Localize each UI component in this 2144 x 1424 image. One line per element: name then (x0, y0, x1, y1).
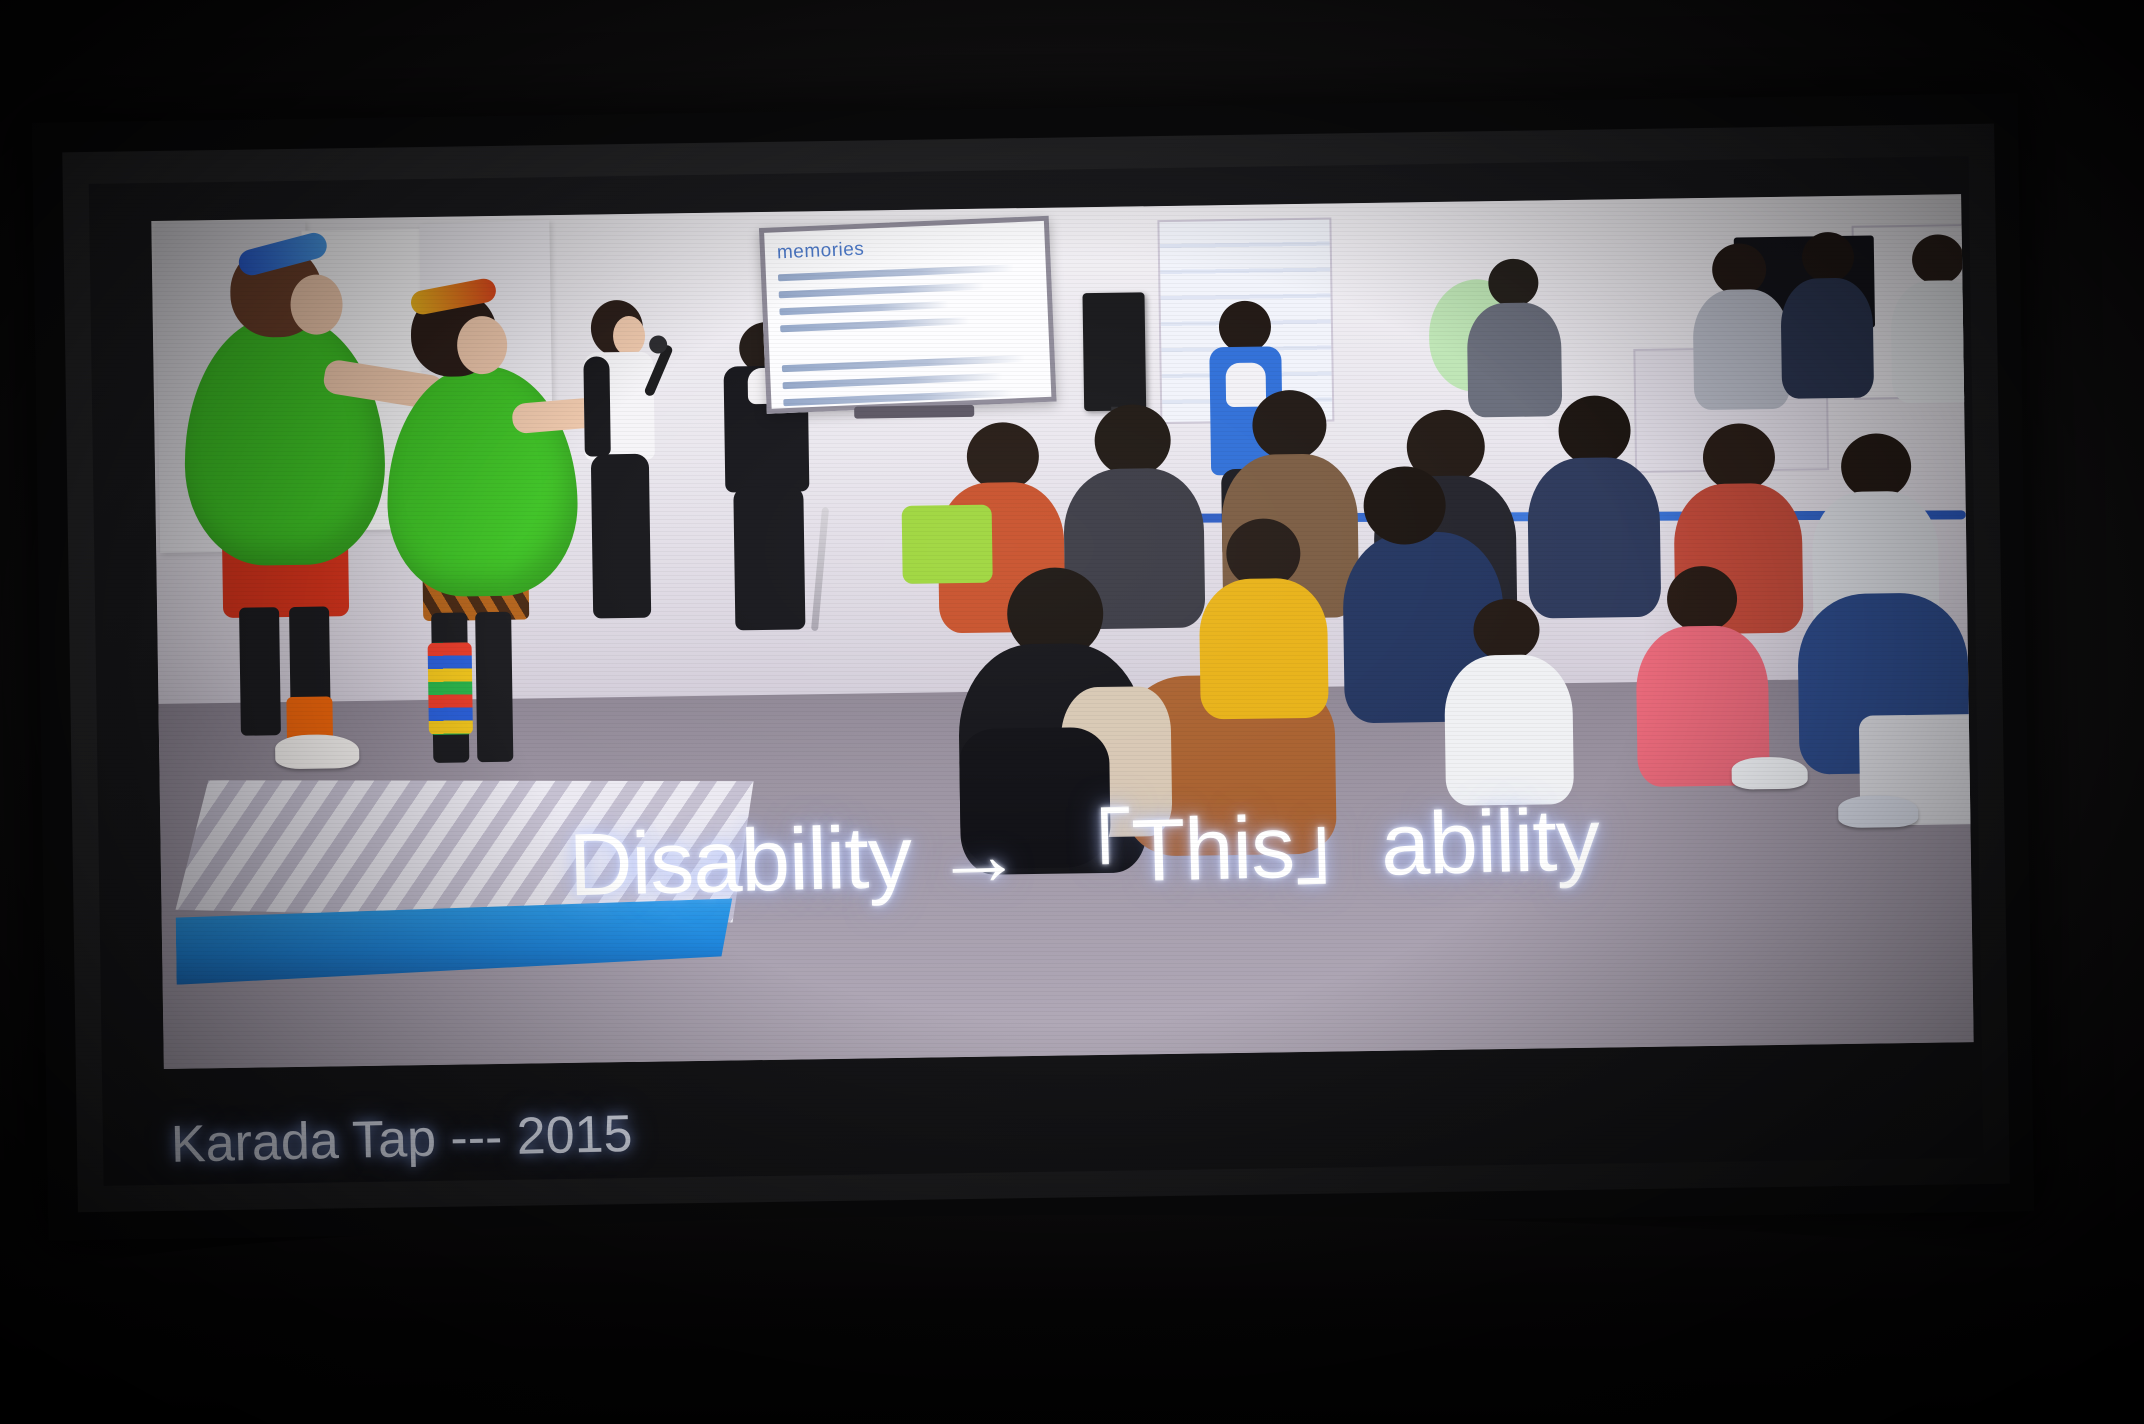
yellow-jacket-child (1199, 578, 1329, 720)
room-floor-shadow (0, 1215, 2144, 1424)
pa-speaker (1082, 292, 1146, 411)
crowd-body (1692, 289, 1790, 410)
memories-slide-title: memories (777, 231, 1034, 264)
white-sneaker (1838, 795, 1918, 828)
slide-overlay-headline: Disability → 「This」ability (567, 768, 1600, 921)
projected-memories-slide: memories (759, 216, 1057, 414)
screen-matte: memories (62, 124, 2010, 1213)
slide-photo: memories (151, 194, 1973, 1069)
crowd-body (1527, 457, 1661, 619)
presenter-with-microphone (569, 299, 684, 631)
crowd-body (1780, 278, 1874, 399)
green-storage-box (902, 505, 993, 584)
crowd-body (1467, 302, 1563, 417)
crowd-body (1890, 280, 1973, 403)
presentation-slide: memories (89, 156, 1984, 1186)
projection-screen: memories (32, 93, 2034, 1240)
white-sneaker (1731, 757, 1807, 790)
slide-footer-caption: Karada Tap --- 2015 (170, 1104, 633, 1175)
projector-screen-stand (854, 405, 974, 419)
